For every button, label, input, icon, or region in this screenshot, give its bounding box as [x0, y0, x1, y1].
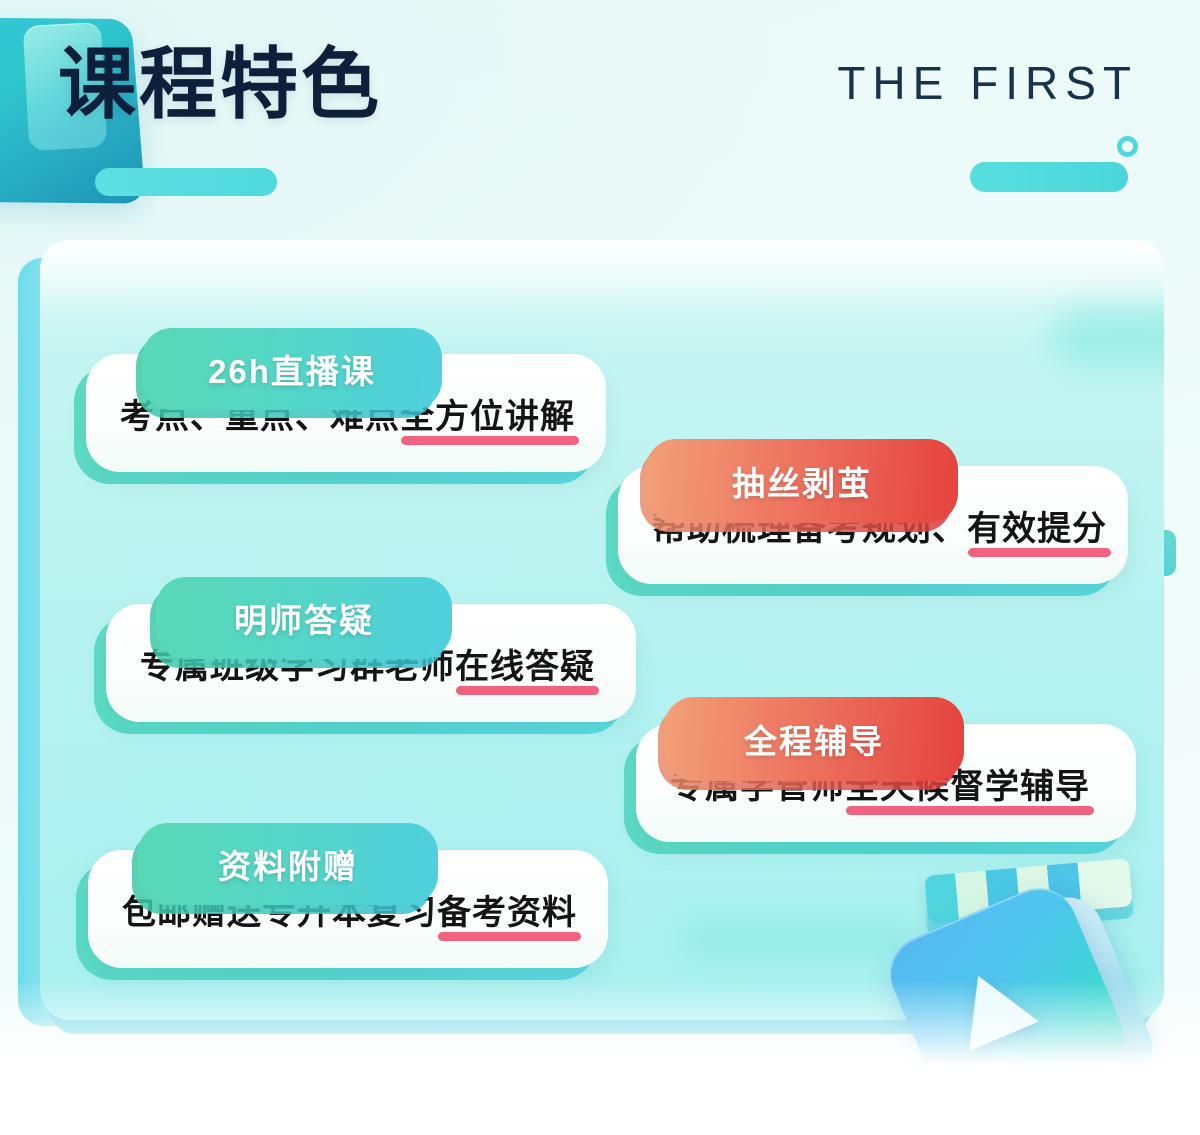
feature-desc-highlight: 在线答疑 — [455, 639, 595, 688]
bottom-fade — [0, 980, 1200, 1135]
brand-bar — [970, 162, 1128, 192]
decorative-blob — [680, 915, 920, 961]
feature-badge: 全程辅导 — [664, 697, 964, 781]
feature-badge: 26h直播课 — [142, 328, 442, 410]
feature-desc-highlight: 备考资料 — [437, 885, 577, 934]
circle-outline-icon — [1117, 136, 1138, 157]
feature-badge: 抽丝剥茧 — [646, 439, 958, 523]
title-underline-bar — [95, 168, 277, 196]
feature-desc-highlight: 有效提分 — [967, 501, 1107, 550]
page-title: 课程特色 — [58, 45, 382, 123]
feature-badge: 明师答疑 — [156, 577, 452, 659]
decorative-blob — [1052, 308, 1164, 368]
poster-root: 课程特色 THE FIRST 考点、重点、难点全方位讲解 26h直播课 — [0, 0, 1200, 1135]
feature-badge: 资料附赠 — [138, 823, 438, 905]
panel-highlight — [40, 240, 1164, 310]
brand-label: THE FIRST — [837, 56, 1138, 110]
